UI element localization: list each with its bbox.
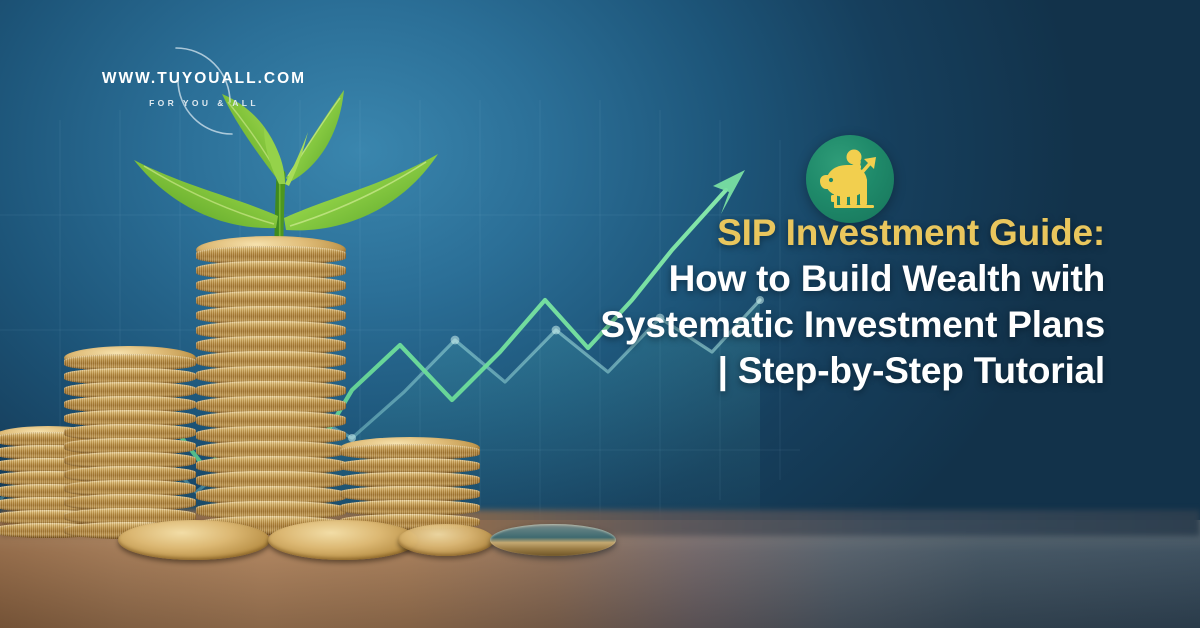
banner-root: WWW.TUYOUALL.COM FOR YOU & ALL bbox=[0, 0, 1200, 628]
coin-stack-left bbox=[64, 354, 196, 536]
headline-line-1: SIP Investment Guide: bbox=[485, 210, 1105, 256]
chart-arrow-head bbox=[713, 170, 745, 214]
coin-stack-tall bbox=[196, 246, 346, 536]
logo-tagline: FOR YOU & ALL bbox=[84, 98, 324, 108]
headline-block: SIP Investment Guide: How to Build Wealt… bbox=[485, 210, 1105, 394]
lying-coin-center bbox=[118, 520, 270, 560]
lying-coin-far-right bbox=[398, 524, 494, 556]
headline-line-2: How to Build Wealth with bbox=[485, 256, 1105, 302]
flat-coin-standalone bbox=[490, 524, 616, 556]
broken-circle-arc-icon bbox=[84, 30, 324, 152]
logo-site-name: WWW.TUYOUALL.COM bbox=[84, 70, 324, 88]
headline-line-4: | Step-by-Step Tutorial bbox=[485, 348, 1105, 394]
headline-line-3: Systematic Investment Plans bbox=[485, 302, 1105, 348]
lying-coin-right bbox=[268, 520, 418, 560]
brand-logo[interactable]: WWW.TUYOUALL.COM FOR YOU & ALL bbox=[84, 30, 324, 152]
